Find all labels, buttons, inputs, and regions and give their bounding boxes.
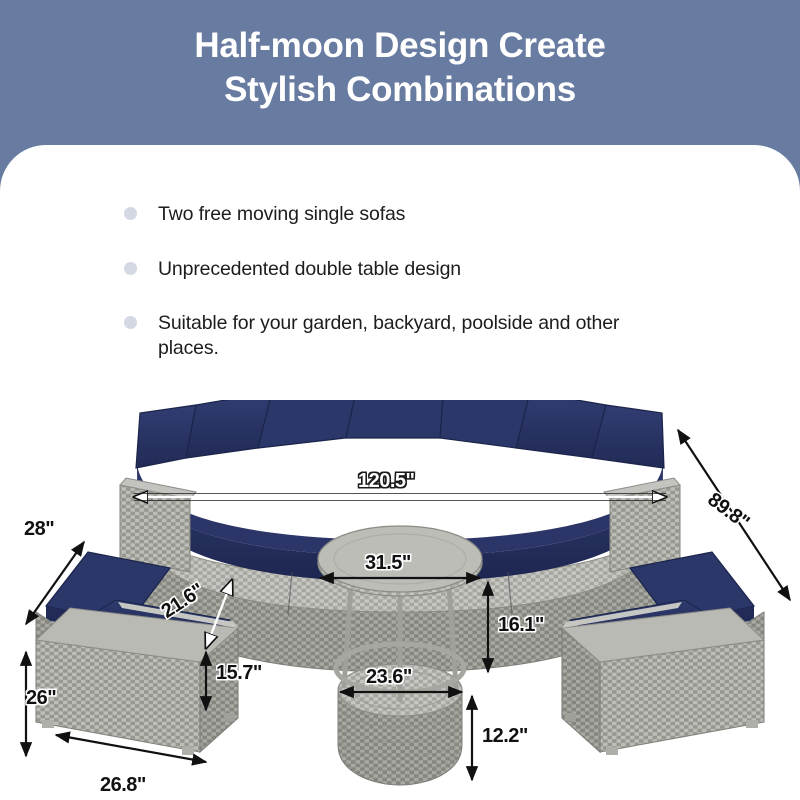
product-svg xyxy=(0,400,800,800)
dimension-label-lower-table-diameter: 23.6" xyxy=(366,666,412,689)
page-title: Half-moon Design Create Stylish Combinat… xyxy=(194,24,605,112)
dimension-label-sofa-width: 120.5" xyxy=(358,470,415,493)
dimension-label-chair-back-depth: 28" xyxy=(24,518,54,541)
dimension-label-upper-table-height: 16.1" xyxy=(498,614,544,637)
feature-item: Two free moving single sofas xyxy=(124,202,744,227)
bullet-dot-icon xyxy=(124,316,137,329)
feature-text: Unprecedented double table design xyxy=(158,257,461,282)
product-illustration: 120.5" 89.8" 28" 26" 21.6" 15.7" 26.8" 3… xyxy=(0,400,800,800)
feature-list: Two free moving single sofas Unprecedent… xyxy=(124,202,744,390)
feature-item: Suitable for your garden, backyard, pool… xyxy=(124,311,684,360)
dimension-label-chair-width: 26.8" xyxy=(100,774,146,797)
feature-text: Two free moving single sofas xyxy=(158,202,405,227)
feature-item: Unprecedented double table design xyxy=(124,257,744,282)
dimension-label-upper-table-diameter: 31.5" xyxy=(365,552,411,575)
content-card: Two free moving single sofas Unprecedent… xyxy=(0,145,800,800)
dimension-label-chair-seat-height: 15.7" xyxy=(216,662,262,685)
header-banner: Half-moon Design Create Stylish Combinat… xyxy=(0,0,800,150)
bullet-dot-icon xyxy=(124,207,137,220)
feature-text: Suitable for your garden, backyard, pool… xyxy=(158,311,684,360)
dimension-label-chair-height: 26" xyxy=(26,687,56,710)
dimension-label-lower-table-height: 12.2" xyxy=(482,725,528,748)
bullet-dot-icon xyxy=(124,262,137,275)
